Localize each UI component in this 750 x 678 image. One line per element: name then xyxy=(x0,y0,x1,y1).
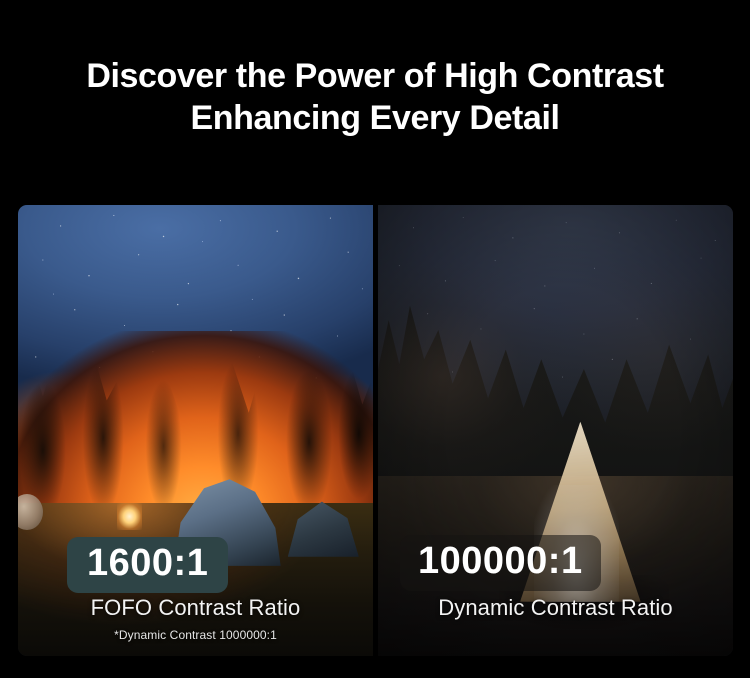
right-overlay: 100000:1 Dynamic Contrast Ratio xyxy=(378,205,733,656)
comparison-panel-right: 100000:1 Dynamic Contrast Ratio xyxy=(378,205,733,656)
page-title-line-2: Enhancing Every Detail xyxy=(0,98,750,140)
left-overlay: 1600:1 FOFO Contrast Ratio *Dynamic Cont… xyxy=(18,205,373,656)
page-title-line-1: Discover the Power of High Contrast xyxy=(0,56,750,98)
comparison-panel-left: 1600:1 FOFO Contrast Ratio *Dynamic Cont… xyxy=(18,205,373,656)
page-title: Discover the Power of High Contrast Enha… xyxy=(0,56,750,140)
right-caption: Dynamic Contrast Ratio xyxy=(378,595,733,621)
left-contrast-badge: 1600:1 xyxy=(67,537,228,593)
promo-banner: Discover the Power of High Contrast Enha… xyxy=(0,0,750,678)
left-caption: FOFO Contrast Ratio xyxy=(18,595,373,621)
contrast-comparison: 1600:1 FOFO Contrast Ratio *Dynamic Cont… xyxy=(18,205,733,656)
right-contrast-badge: 100000:1 xyxy=(400,535,601,591)
left-subcaption: *Dynamic Contrast 1000000:1 xyxy=(18,628,373,642)
